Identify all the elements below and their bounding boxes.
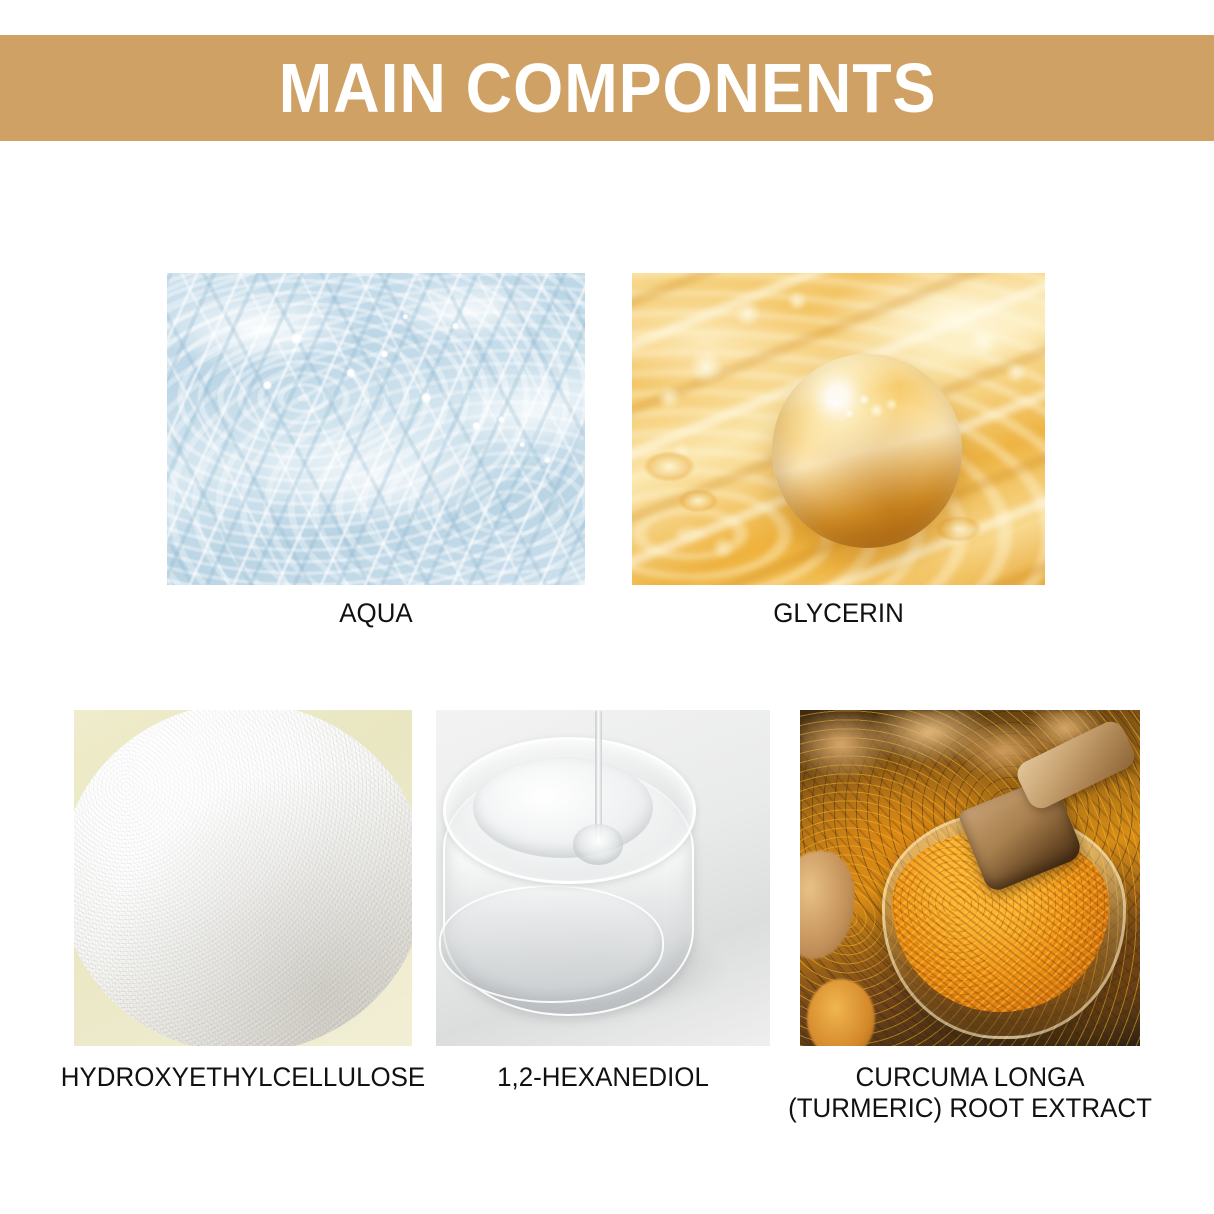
component-card-hydroxyethylcellulose — [74, 710, 412, 1046]
petri-dish-liquid — [473, 757, 653, 858]
water-ripples-photo — [167, 273, 585, 585]
component-label-hexanediol: 1,2-HEXANEDIOL — [433, 1062, 773, 1093]
component-card-curcuma — [800, 710, 1140, 1046]
components-row-top: AQUA GLYCERIN — [0, 273, 1214, 585]
glycerin-sphere — [772, 354, 962, 547]
component-label-glycerin: GLYCERIN — [640, 598, 1036, 629]
component-label-hydroxyethylcellulose: HYDROXYETHYLCELLULOSE — [33, 1062, 453, 1093]
white-powder-mound-photo — [74, 710, 412, 1046]
golden-glycerin-sphere-photo — [632, 273, 1045, 585]
header-banner: MAIN COMPONENTS — [0, 35, 1214, 141]
component-card-hexanediol — [436, 710, 770, 1046]
components-row-bottom: HYDROXYETHYLCELLULOSE 1,2-HEXANEDIOL — [0, 710, 1214, 1046]
component-card-glycerin — [632, 273, 1045, 585]
page-title: MAIN COMPONENTS — [278, 53, 936, 123]
component-card-aqua — [167, 273, 585, 585]
water-sparkle-layer — [167, 273, 585, 585]
petri-dish-lower-ring — [439, 885, 663, 1003]
component-label-curcuma: CURCUMA LONGA (TURMERIC) ROOT EXTRACT — [788, 1062, 1153, 1124]
liquid-impact-pool — [573, 824, 623, 864]
powder-shading-layer — [74, 710, 412, 1046]
component-label-aqua: AQUA — [175, 598, 576, 629]
petri-dish-clear-liquid-photo — [436, 710, 770, 1046]
turmeric-powder-bowl-photo — [800, 710, 1140, 1046]
